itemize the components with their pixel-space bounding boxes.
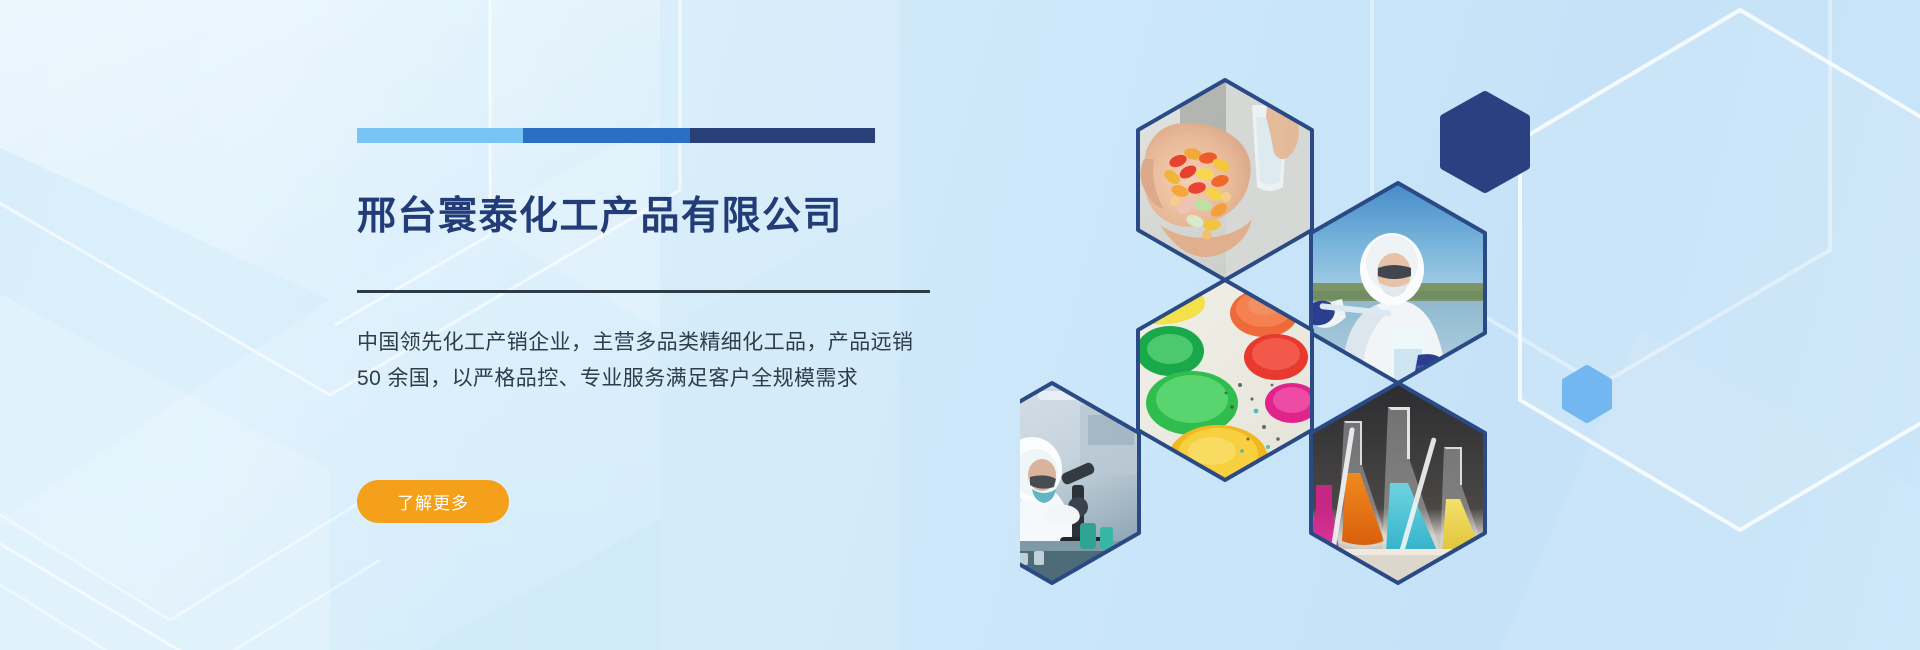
- hero-banner: 邢台寰泰化工产品有限公司 中国领先化工产销企业，主营多品类精细化工品，产品远销 …: [0, 0, 1920, 650]
- accent-bar: [357, 128, 875, 143]
- hex-tile-water-testing: [1302, 175, 1491, 393]
- accent-bar-segment-light: [357, 128, 523, 143]
- company-description: 中国领先化工产销企业，主营多品类精细化工品，产品远销 50 余国，以严格品控、专…: [357, 325, 922, 397]
- title-divider: [357, 290, 930, 293]
- hex-tile-pills: [1130, 73, 1322, 305]
- hex-accent-navy: [1444, 95, 1526, 189]
- hex-accent-blue: [1565, 368, 1609, 420]
- accent-bar-segment-medium: [523, 128, 690, 143]
- hex-tile-microscope-lab: [1020, 377, 1146, 589]
- company-title: 邢台寰泰化工产品有限公司: [357, 193, 843, 242]
- learn-more-button[interactable]: 了解更多: [357, 480, 509, 523]
- hero-content: 邢台寰泰化工产品有限公司 中国领先化工产销企业，主营多品类精细化工品，产品远销 …: [357, 0, 997, 650]
- hex-tile-flasks: [1305, 377, 1491, 589]
- accent-bar-segment-dark: [690, 128, 875, 143]
- bg-chevron-group: [0, 490, 380, 650]
- hexagon-photo-collage: [1020, 55, 1660, 595]
- hex-tile-pigments: [1130, 275, 1322, 493]
